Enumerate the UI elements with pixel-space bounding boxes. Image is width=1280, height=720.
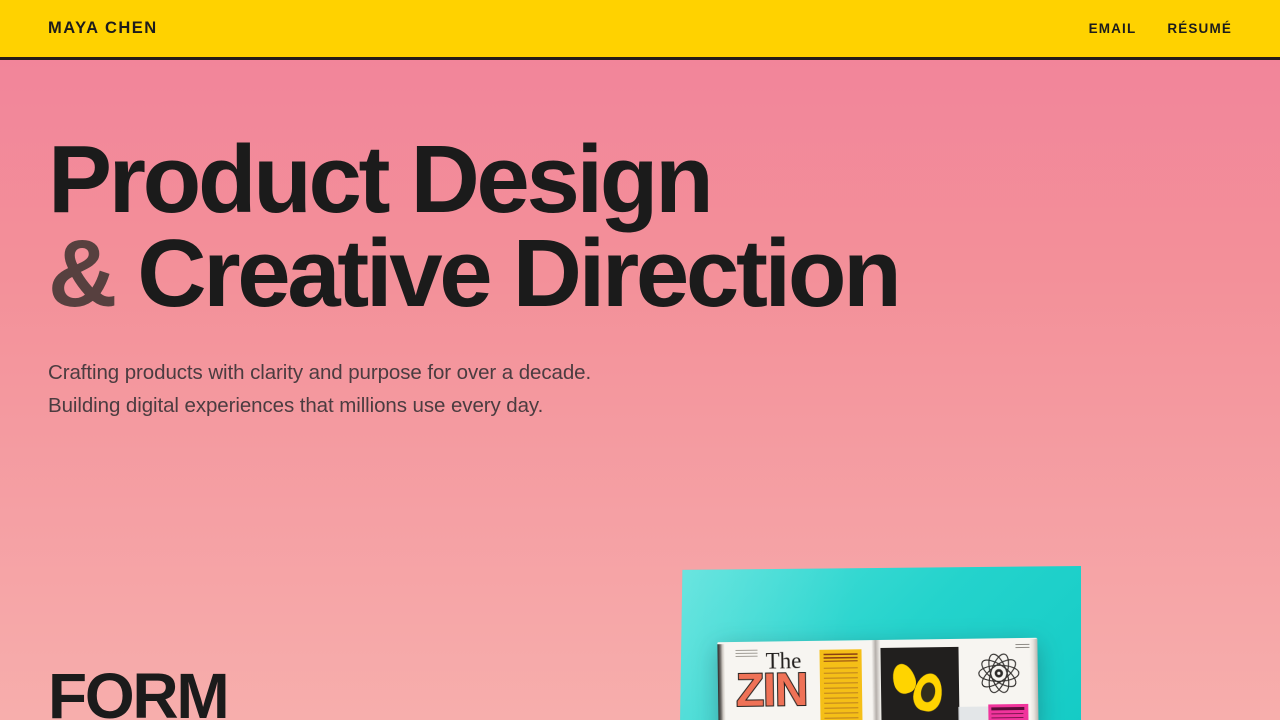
magazine-folio-text (1015, 644, 1029, 648)
hero-title-line-2-text: Creative Direction (137, 220, 898, 327)
logo-wordmark[interactable]: MAYA CHEN (48, 19, 158, 38)
atom-diagram-icon (976, 650, 1023, 697)
magazine-black-panel (880, 647, 959, 720)
yellow-column-body-lines (824, 667, 859, 720)
hero-title-line-1: Product Design (48, 133, 1232, 227)
page-title: Product Design & Creative Direction (48, 133, 1232, 321)
section-heading-form: FORM (48, 664, 227, 720)
hero-title-line-2: & Creative Direction (48, 227, 1232, 321)
site-header: MAYA CHEN EMAIL RÉSUMÉ (0, 0, 1280, 60)
artwork-magazine-photo: The ZIN (672, 556, 1092, 720)
hero-section: Product Design & Creative Direction Craf… (0, 63, 1280, 422)
magazine-display-word: ZIN (736, 671, 808, 709)
primary-nav: EMAIL RÉSUMÉ (1089, 21, 1232, 36)
pear-shape-large (911, 671, 946, 714)
sticky-note-title-line (991, 707, 1024, 710)
page-root: MAYA CHEN EMAIL RÉSUMÉ Product Design & … (0, 0, 1280, 720)
nav-link-email[interactable]: EMAIL (1089, 21, 1137, 36)
nav-link-resume[interactable]: RÉSUMÉ (1167, 21, 1232, 36)
magazine-yellow-column (819, 649, 862, 720)
open-magazine: The ZIN (717, 638, 1038, 720)
magazine-right-page (875, 638, 1038, 720)
hero-ampersand: & (48, 220, 114, 327)
hero-subtitle-line-1: Crafting products with clarity and purpo… (48, 357, 1232, 389)
magazine-left-page: The ZIN (717, 640, 876, 720)
hero-subtitle-line-2: Building digital experiences that millio… (48, 390, 1232, 422)
magazine-kicker-text (735, 650, 757, 657)
magazine-sticky-note (988, 704, 1028, 720)
magazine-spine-gutter (871, 640, 881, 720)
yellow-column-title-lines (824, 653, 858, 661)
sticky-note-body-lines (991, 713, 1023, 720)
hero-subtitle: Crafting products with clarity and purpo… (48, 357, 1232, 422)
